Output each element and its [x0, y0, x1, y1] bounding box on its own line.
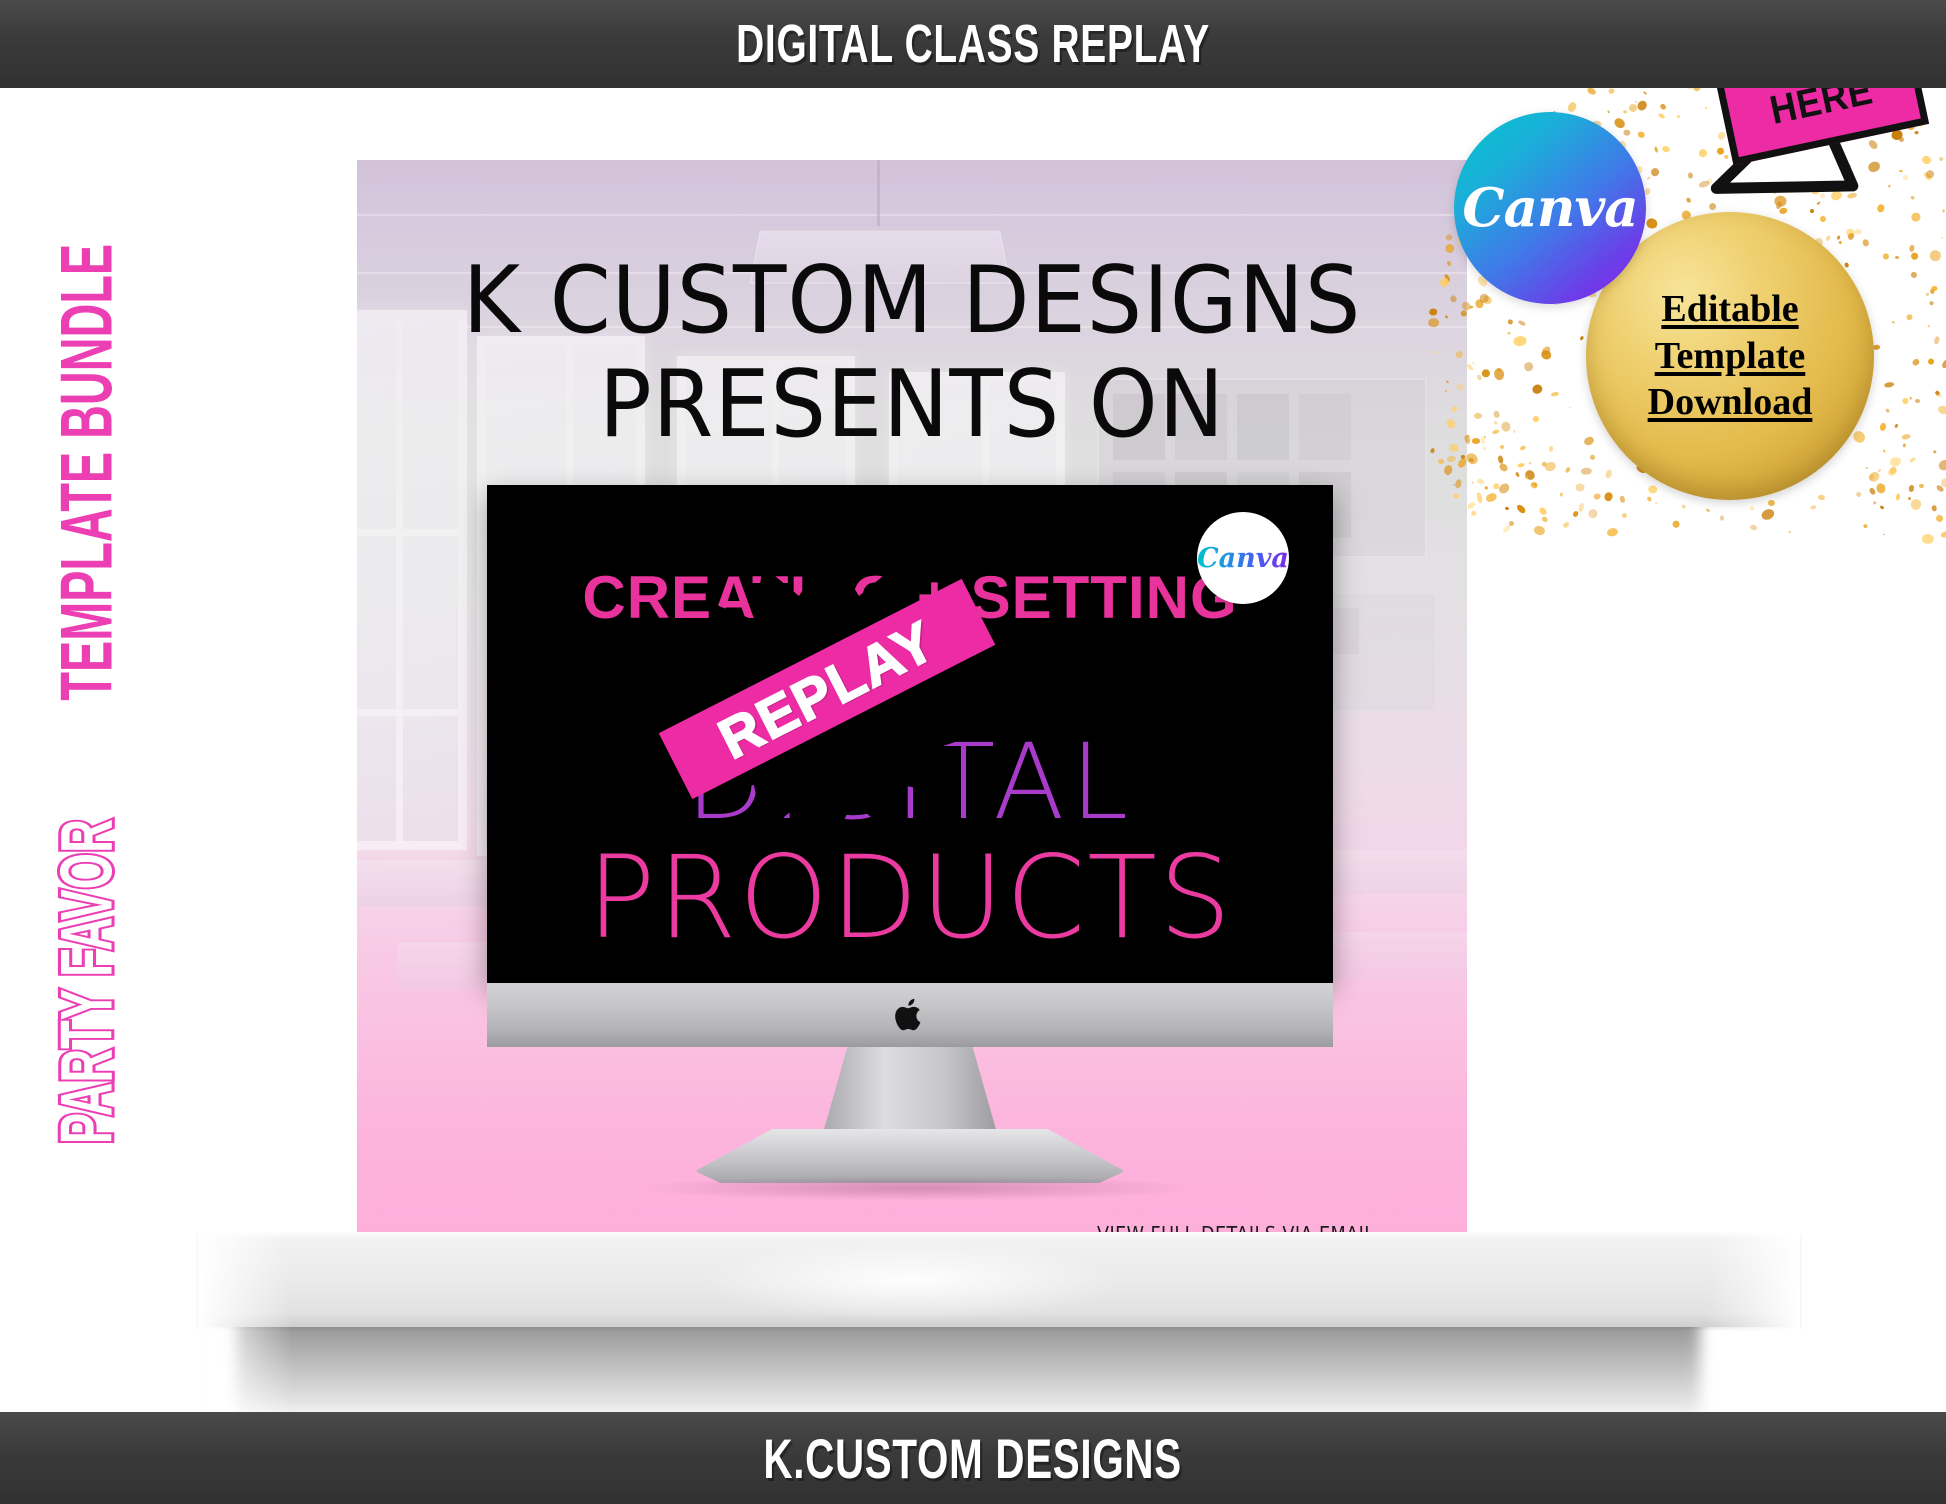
- product-mockup-card[interactable]: K CUSTOM DESIGNS PRESENTS ON CREATING + …: [357, 160, 1467, 1250]
- side-label: PARTY FAVOR TEMPLATE BUNDLE: [12, 405, 162, 965]
- badge-cluster: Editable Template Download Canva CLICK H…: [1440, 60, 1946, 530]
- ceiling-line: [357, 214, 1467, 216]
- canva-badge-label: Canva: [1462, 177, 1637, 239]
- monitor-chin: [487, 983, 1333, 1047]
- side-label-line2: TEMPLATE BUNDLE: [50, 244, 123, 701]
- gold-badge-line2: Template: [1655, 333, 1806, 379]
- bottom-banner: K.CUSTOM DESIGNS: [0, 1412, 1946, 1504]
- poster-canvas: DIGITAL CLASS REPLAY: [0, 0, 1946, 1504]
- top-banner-title: DIGITAL CLASS REPLAY: [736, 13, 1210, 75]
- monitor-shadow: [637, 1175, 1197, 1201]
- side-label-line1: PARTY FAVOR: [50, 819, 123, 1144]
- shelf-fade-left: [198, 1232, 293, 1422]
- canva-chip-badge[interactable]: Canva: [1197, 512, 1289, 604]
- monitor-stand-neck: [823, 1047, 997, 1133]
- canva-badge[interactable]: Canva: [1454, 112, 1646, 304]
- light-stem: [877, 160, 880, 226]
- card-headline-line2: PRESENTS ON: [390, 356, 1433, 453]
- shelf-highlight: [700, 1240, 1120, 1320]
- shelf-fade-right: [1705, 1232, 1800, 1422]
- canva-chip-label: Canva: [1197, 543, 1289, 574]
- gold-badge-line3: Download: [1648, 379, 1813, 425]
- shelf-shadow: [235, 1315, 1700, 1415]
- apple-logo-icon: [895, 997, 925, 1033]
- bottom-banner-title: K.CUSTOM DESIGNS: [764, 1426, 1183, 1491]
- card-headline-line1: K CUSTOM DESIGNS: [390, 252, 1433, 349]
- top-banner: DIGITAL CLASS REPLAY: [0, 0, 1946, 88]
- gold-badge-line1: Editable: [1661, 286, 1798, 332]
- screen-line-4: PRODUCTS: [495, 831, 1325, 964]
- replay-badge[interactable]: REPLAY: [679, 548, 979, 848]
